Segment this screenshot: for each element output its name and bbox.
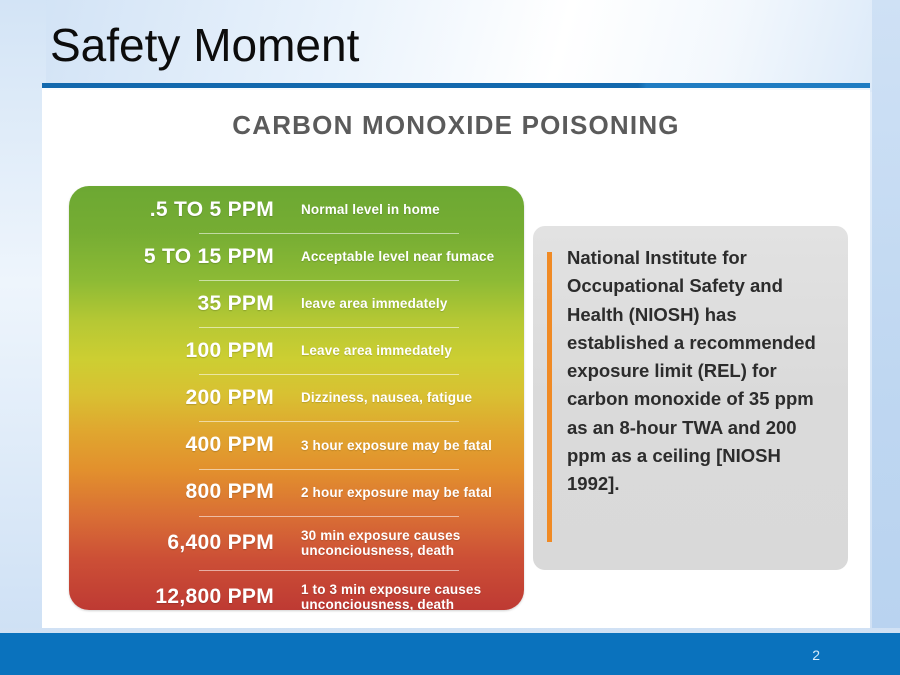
ppm-description-line: 3 hour exposure may be fatal	[301, 438, 492, 453]
ppm-value: .5 TO 5 PPM	[69, 198, 274, 222]
ppm-value: 35 PPM	[69, 292, 274, 316]
ppm-description: 30 min exposure causes unconciousness, d…	[274, 528, 460, 558]
row-divider	[199, 327, 459, 328]
ppm-value: 400 PPM	[69, 433, 274, 457]
ppm-description-line: leave area immedately	[301, 296, 448, 311]
ppm-value: 200 PPM	[69, 386, 274, 410]
ppm-description-line: Normal level in home	[301, 202, 440, 217]
row-divider	[199, 280, 459, 281]
list-item: 12,800 PPM 1 to 3 min exposure causes un…	[69, 570, 524, 610]
list-item: 800 PPM 2 hour exposure may be fatal	[69, 469, 524, 516]
co-level-row-list: .5 TO 5 PPM Normal level in home 5 TO 15…	[69, 186, 524, 610]
ppm-description: 3 hour exposure may be fatal	[274, 438, 492, 453]
note-accent-bar	[547, 252, 552, 542]
ppm-description-line: Dizziness, nausea, fatigue	[301, 390, 472, 405]
slide-title-area: Safety Moment	[0, 0, 900, 92]
row-divider	[199, 516, 459, 517]
ppm-description-line: 1 to 3 min exposure causes	[301, 582, 481, 597]
presentation-slide: Safety Moment CARBON MONOXIDE POISONING …	[0, 0, 900, 675]
ppm-description-line: unconciousness, death	[301, 543, 460, 558]
ppm-description: Leave area immedately	[274, 343, 452, 358]
ppm-description: Dizziness, nausea, fatigue	[274, 390, 472, 405]
list-item: 200 PPM Dizziness, nausea, fatigue	[69, 374, 524, 421]
slide-background-right	[872, 0, 900, 628]
list-item: 100 PPM Leave area immedately	[69, 327, 524, 374]
ppm-description-line: unconciousness, death	[301, 597, 481, 610]
list-item: 5 TO 15 PPM Acceptable level near fumace	[69, 233, 524, 280]
ppm-description-line: Acceptable level near fumace	[301, 249, 494, 264]
infographic-heading: CARBON MONOXIDE POISONING	[42, 110, 870, 141]
row-divider	[199, 233, 459, 234]
ppm-description: Acceptable level near fumace	[274, 249, 494, 264]
ppm-value: 12,800 PPM	[69, 585, 274, 609]
ppm-description-line: Leave area immedately	[301, 343, 452, 358]
row-divider	[199, 421, 459, 422]
list-item: 400 PPM 3 hour exposure may be fatal	[69, 421, 524, 468]
slide-background-left	[0, 0, 46, 628]
ppm-description: Normal level in home	[274, 202, 440, 217]
row-divider	[199, 374, 459, 375]
niosh-note-text: National Institute for Occupational Safe…	[567, 244, 835, 499]
ppm-description-line: 30 min exposure causes	[301, 528, 460, 543]
ppm-description-line: 2 hour exposure may be fatal	[301, 485, 492, 500]
ppm-description: 2 hour exposure may be fatal	[274, 485, 492, 500]
ppm-description: 1 to 3 min exposure causes unconciousnes…	[274, 582, 481, 610]
ppm-value: 800 PPM	[69, 480, 274, 504]
ppm-value: 100 PPM	[69, 339, 274, 363]
list-item: 6,400 PPM 30 min exposure causes unconci…	[69, 516, 524, 570]
slide-content-canvas: CARBON MONOXIDE POISONING .5 TO 5 PPM No…	[42, 90, 870, 628]
ppm-description: leave area immedately	[274, 296, 448, 311]
row-divider	[199, 570, 459, 571]
ppm-value: 5 TO 15 PPM	[69, 245, 274, 269]
niosh-note-panel: National Institute for Occupational Safe…	[533, 226, 848, 570]
list-item: 35 PPM leave area immedately	[69, 280, 524, 327]
slide-number: 2	[812, 647, 820, 663]
co-level-gradient-card: .5 TO 5 PPM Normal level in home 5 TO 15…	[69, 186, 524, 610]
list-item: .5 TO 5 PPM Normal level in home	[69, 186, 524, 233]
page-title: Safety Moment	[50, 16, 359, 74]
ppm-value: 6,400 PPM	[69, 531, 274, 555]
slide-footer-bar: 2	[0, 633, 900, 675]
row-divider	[199, 469, 459, 470]
